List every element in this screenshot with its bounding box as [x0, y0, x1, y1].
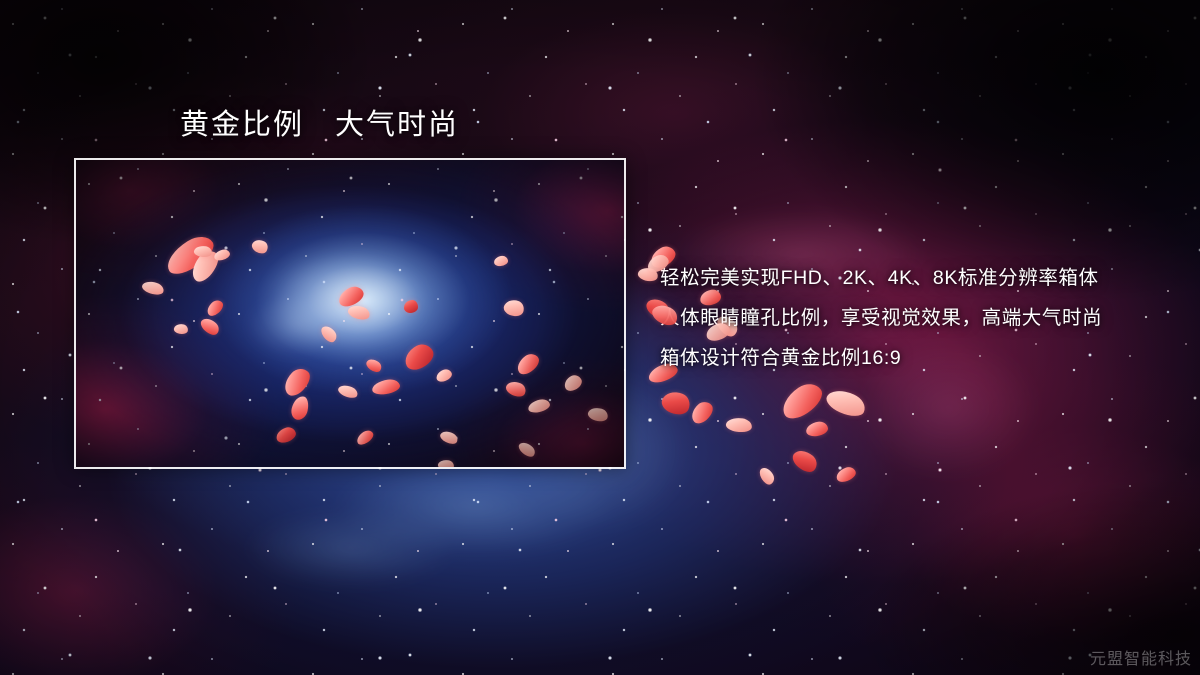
picture-frame-content — [76, 160, 624, 467]
page-title: 黄金比例 大气时尚 — [180, 101, 459, 143]
slide-canvas: 黄金比例 大气时尚 轻松完美实现FHD、2K、4K、8K标准分辨率箱体 人体眼睛… — [0, 0, 1200, 675]
inner-vignette — [76, 160, 624, 467]
watermark: 元盟智能科技 — [1090, 645, 1192, 669]
body-line-1: 轻松完美实现FHD、2K、4K、8K标准分辨率箱体 — [660, 258, 1102, 298]
body-line-3: 箱体设计符合黄金比例16:9 — [660, 338, 1102, 378]
picture-frame[interactable] — [74, 158, 626, 469]
body-text-block: 轻松完美实现FHD、2K、4K、8K标准分辨率箱体 人体眼睛瞳孔比例，享受视觉效… — [660, 258, 1102, 378]
